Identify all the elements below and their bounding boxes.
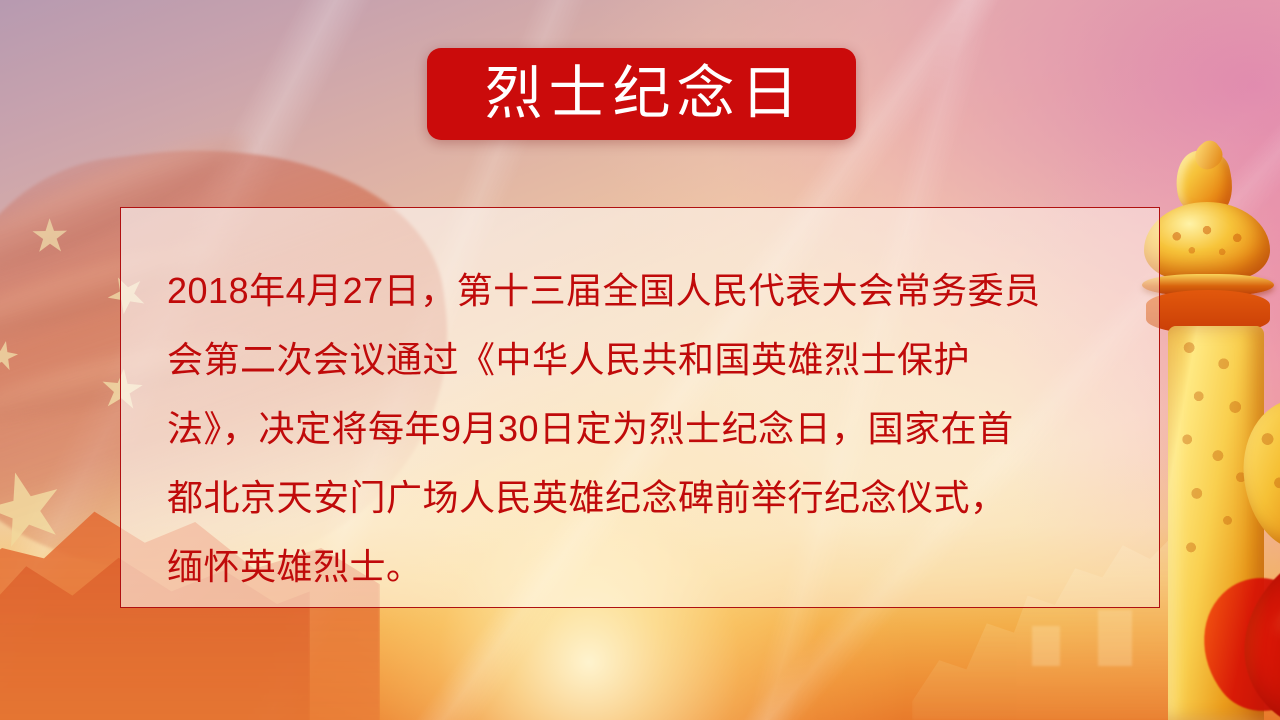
page-title: 烈士纪念日 <box>478 65 804 123</box>
content-box: 2018年4月27日，第十三届全国人民代表大会常务委员 会第二次会议通过《中华人… <box>120 207 1160 608</box>
body-paragraph: 2018年4月27日，第十三届全国人民代表大会常务委员 会第二次会议通过《中华人… <box>167 256 1119 601</box>
slide-canvas: 烈士纪念日 2018年4月27日，第十三届全国人民代表大会常务委员 会第二次会议… <box>0 0 1280 720</box>
huabiao-column-decoration <box>1140 150 1280 720</box>
wall-tower <box>1098 610 1132 666</box>
title-banner: 烈士纪念日 <box>427 48 856 140</box>
wall-tower <box>1032 626 1060 666</box>
huabiao-cap-carving <box>1144 202 1270 280</box>
